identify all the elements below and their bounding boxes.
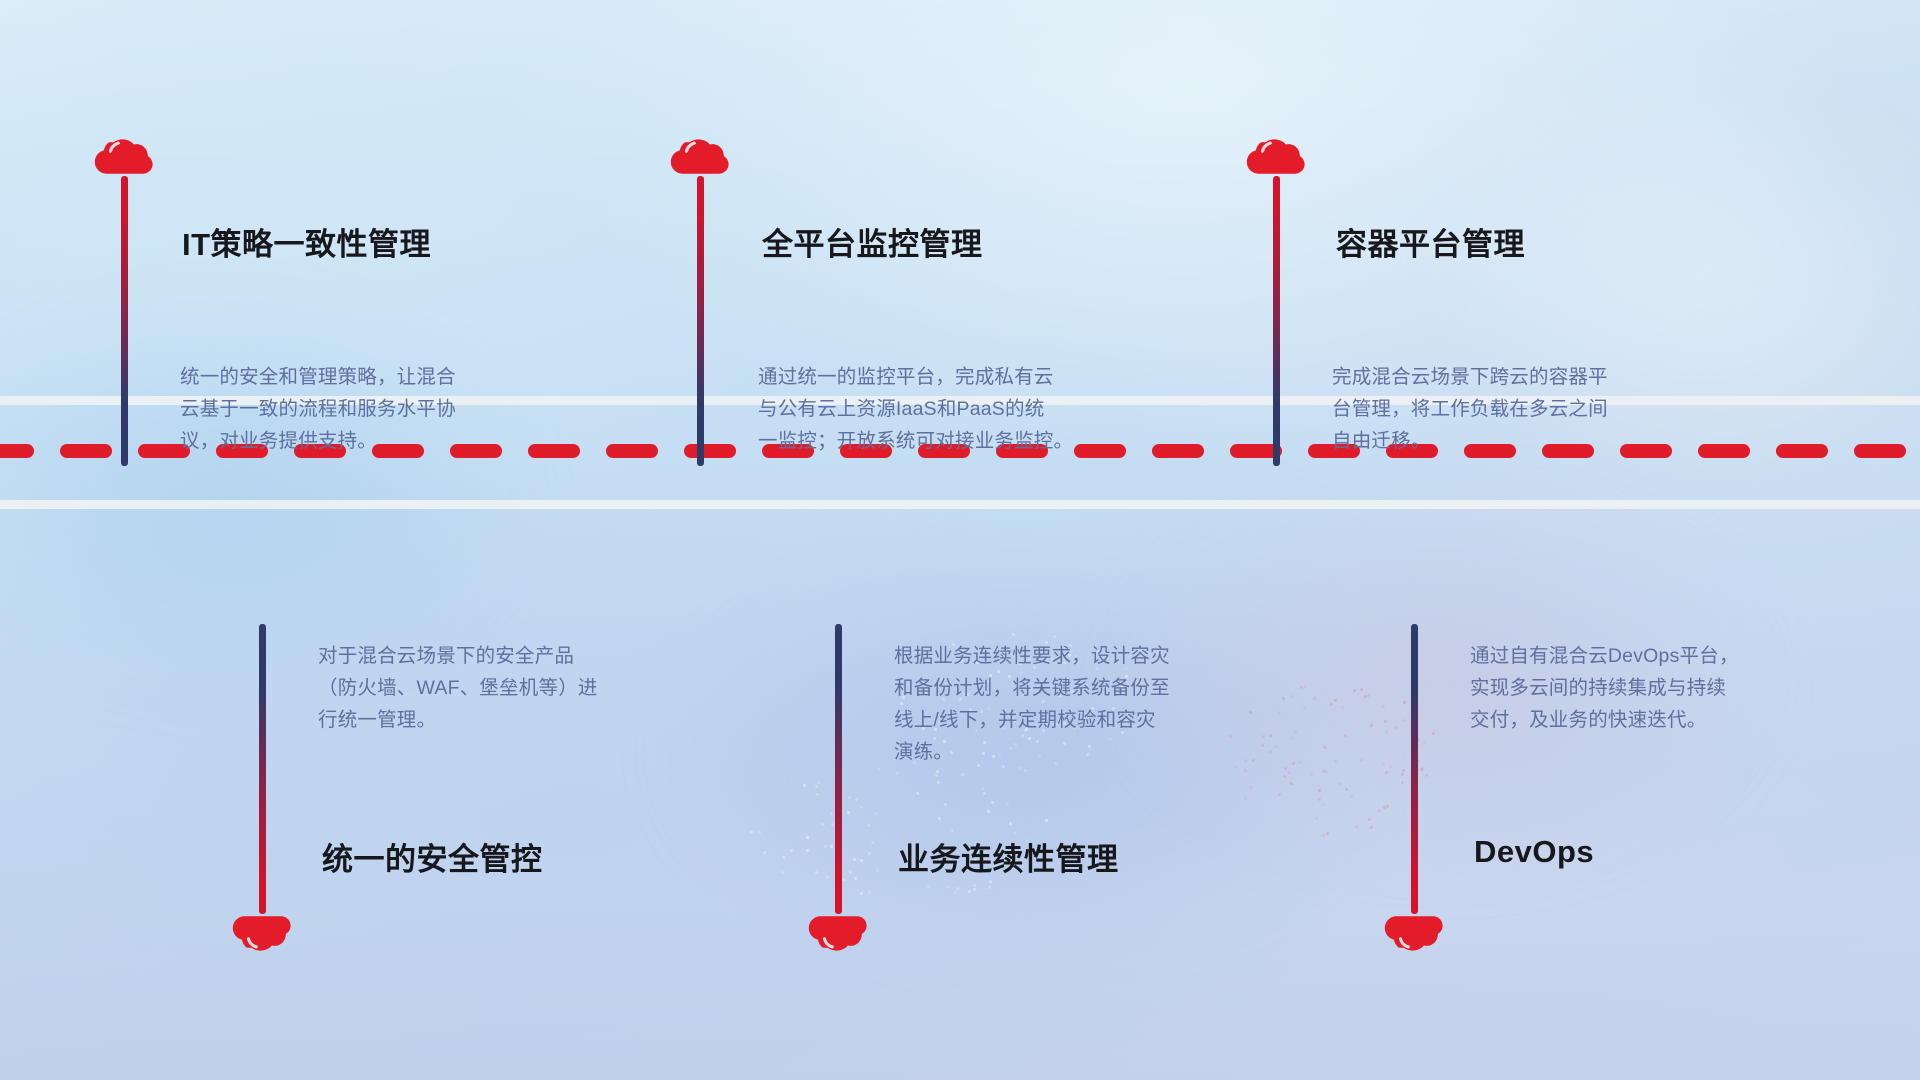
- cloud-marker-icon[interactable]: [807, 906, 869, 952]
- road-dash: [528, 444, 580, 458]
- road-dash: [1464, 444, 1516, 458]
- road-dash: [1152, 444, 1204, 458]
- road-dash: [1776, 444, 1828, 458]
- road-line-lower: [0, 500, 1920, 509]
- road-dash: [372, 444, 424, 458]
- road-dash: [1854, 444, 1906, 458]
- cloud-marker-icon[interactable]: [231, 906, 293, 952]
- road-dash: [1698, 444, 1750, 458]
- road-dash: [1308, 444, 1360, 458]
- road-dash: [216, 444, 268, 458]
- road-dash: [294, 444, 346, 458]
- road-dash: [1542, 444, 1594, 458]
- cloud-marker-icon[interactable]: [1383, 906, 1445, 952]
- road-dash: [1620, 444, 1672, 458]
- road-center-dashes: [0, 444, 1920, 458]
- road-dash: [138, 444, 190, 458]
- cloud-marker-icon[interactable]: [1245, 138, 1307, 184]
- cloud-marker-icon[interactable]: [93, 138, 155, 184]
- road-dash: [450, 444, 502, 458]
- road-dash: [996, 444, 1048, 458]
- infographic-canvas: IT策略一致性管理统一的安全和管理策略，让混合 云基于一致的流程和服务水平协 议…: [0, 0, 1920, 1080]
- road-dash: [1386, 444, 1438, 458]
- road-dash: [0, 444, 34, 458]
- road-dash: [1230, 444, 1282, 458]
- road-dash: [1074, 444, 1126, 458]
- road-line-upper: [0, 396, 1920, 405]
- road-dash: [60, 444, 112, 458]
- road-dash: [840, 444, 892, 458]
- road-dash: [684, 444, 736, 458]
- road-dash: [918, 444, 970, 458]
- cloud-marker-icon[interactable]: [669, 138, 731, 184]
- road-dash: [606, 444, 658, 458]
- road-dash: [762, 444, 814, 458]
